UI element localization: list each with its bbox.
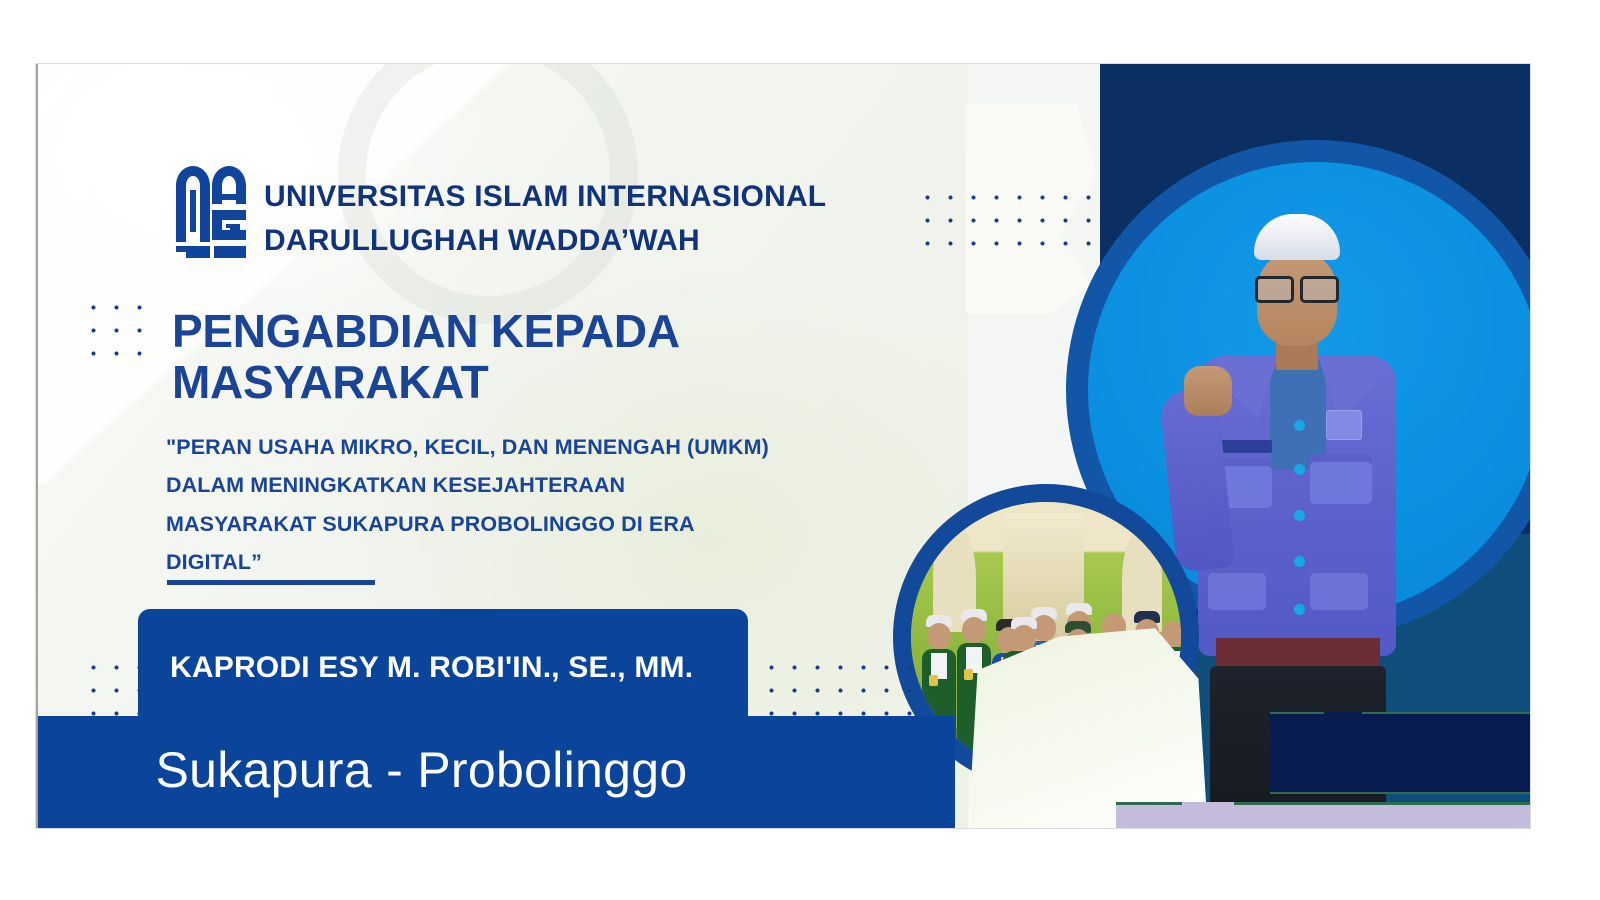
presenter-banner: KAPRODI ESY M. ROBI'IN., SE., MM.: [138, 609, 748, 727]
location-banner: Sukapura - Probolinggo: [38, 716, 955, 828]
speaker-button: [1294, 420, 1305, 431]
university-name-line1: UNIVERSITAS ISLAM INTERNASIONAL: [264, 175, 944, 219]
university-name: UNIVERSITAS ISLAM INTERNASIONAL DARULLUG…: [264, 175, 944, 263]
subtitle-quote: "PERAN USAHA MIKRO, KECIL, DAN MENENGAH …: [166, 428, 926, 581]
navy-accent-strip: [1270, 712, 1530, 794]
speaker-button: [1294, 604, 1305, 615]
program-label: Islamic Economics: [1131, 825, 1530, 829]
speaker-pocket-right: [1310, 454, 1372, 504]
subtitle-quote-line2: DALAM MENINGKATKAN KESEJAHTERAAN: [166, 466, 926, 504]
program-bar: Islamic Economics: [1116, 802, 1530, 828]
speaker-button: [1294, 510, 1305, 521]
speaker-kopiah-cap: [1254, 214, 1340, 260]
speaker-button: [1294, 464, 1305, 475]
subtitle-quote-line4: DIGITAL”: [166, 543, 926, 581]
university-logo-icon: [174, 160, 248, 264]
speaker-pocket-lower-right: [1310, 566, 1368, 610]
speaker-button: [1294, 556, 1305, 567]
university-name-line2: DARULLUGHAH WADDA’WAH: [264, 219, 944, 263]
page-title-line2: MASYARAKAT: [172, 357, 772, 408]
page-title-line1: PENGABDIAN KEPADA: [172, 306, 772, 357]
speaker-pocket-lower-left: [1208, 566, 1266, 610]
speaker-badge: [1326, 410, 1362, 440]
presentation-slide: UNIVERSITAS ISLAM INTERNASIONAL DARULLUG…: [36, 64, 1530, 828]
location-text: Sukapura - Probolinggo: [156, 741, 838, 803]
speaker-fist: [1184, 366, 1232, 416]
speaker-figure: [1158, 214, 1478, 774]
dot-grid-icon: [78, 292, 154, 368]
subtitle-quote-line1: "PERAN USAHA MIKRO, KECIL, DAN MENENGAH …: [166, 428, 926, 466]
title-underline: [167, 580, 375, 585]
subtitle-quote-line3: MASYARAKAT SUKAPURA PROBOLINGGO DI ERA: [166, 505, 926, 543]
speaker-glasses: [1255, 276, 1339, 298]
presenter-name: KAPRODI ESY M. ROBI'IN., SE., MM.: [138, 651, 693, 685]
page-title: PENGABDIAN KEPADA MASYARAKAT: [172, 306, 772, 407]
